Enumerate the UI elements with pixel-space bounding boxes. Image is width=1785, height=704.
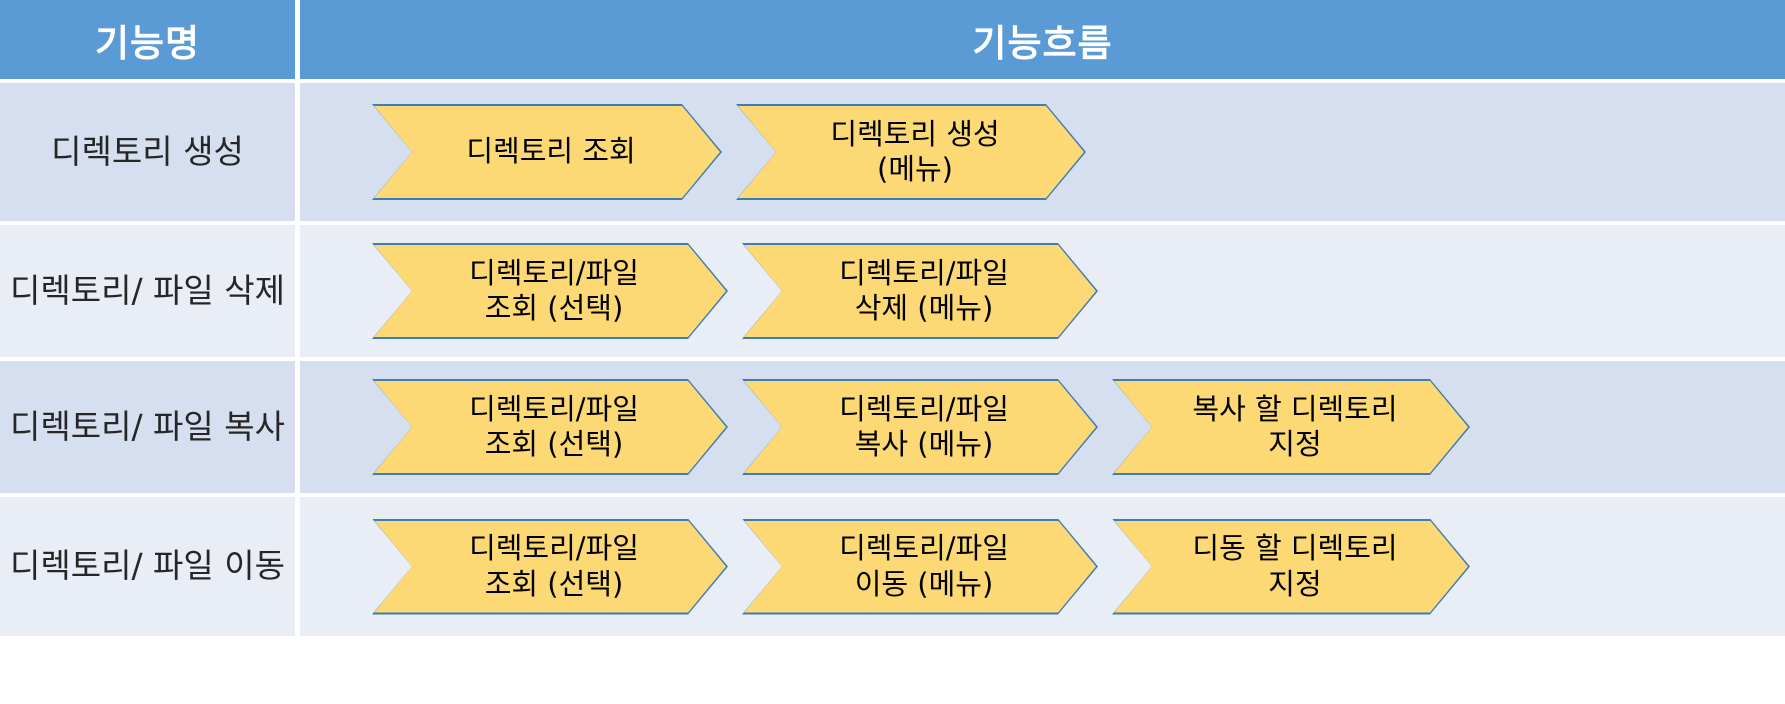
row-function-name: 디렉토리/ 파일 삭제: [0, 225, 300, 357]
row-function-name: 디렉토리/ 파일 이동: [0, 497, 300, 636]
flow-step-label: 디렉토리/파일 삭제 (메뉴): [744, 245, 1096, 337]
row-function-name: 디렉토리 생성: [0, 83, 300, 221]
table-row: 디렉토리 생성 디렉토리 조회 디렉토리 생성 (메뉴): [0, 79, 1785, 221]
flow-step-label: 디렉토리/파일 조회 (선택): [374, 521, 726, 613]
flow-step-label: 디렉토리 생성 (메뉴): [738, 106, 1084, 198]
row-flow-cell: 디렉토리/파일 조회 (선택) 디렉토리/파일 삭제 (메뉴): [300, 225, 1785, 357]
table-header-row: 기능명 기능흐름: [0, 0, 1785, 79]
flow-step-chevron[interactable]: 디렉토리 생성 (메뉴): [736, 104, 1086, 200]
table-row: 디렉토리/ 파일 복사 디렉토리/파일 조회 (선택) 디렉토리/파일 복사 (…: [0, 357, 1785, 493]
flow-step-label: 디렉토리/파일 조회 (선택): [374, 381, 726, 473]
row-flow-cell: 디렉토리 조회 디렉토리 생성 (메뉴): [300, 83, 1785, 221]
row-flow-cell: 디렉토리/파일 조회 (선택) 디렉토리/파일 복사 (메뉴) 복사 할 디렉토…: [300, 361, 1785, 493]
flow-step-label: 디렉토리/파일 이동 (메뉴): [744, 521, 1096, 613]
flow-step-label: 복사 할 디렉토리 지정: [1114, 381, 1468, 473]
flow-step-chevron[interactable]: 디동 할 디렉토리 지정: [1112, 519, 1470, 615]
flow-step-label: 디렉토리/파일 조회 (선택): [374, 245, 726, 337]
flow-step-chevron[interactable]: 디렉토리/파일 조회 (선택): [372, 243, 728, 339]
flow-step-chevron[interactable]: 디렉토리/파일 삭제 (메뉴): [742, 243, 1098, 339]
flow-step-chevron[interactable]: 디렉토리/파일 조회 (선택): [372, 519, 728, 615]
flow-step-chevron[interactable]: 디렉토리/파일 조회 (선택): [372, 379, 728, 475]
row-function-name: 디렉토리/ 파일 복사: [0, 361, 300, 493]
table-row: 디렉토리/ 파일 삭제 디렉토리/파일 조회 (선택) 디렉토리/파일 삭제 (…: [0, 221, 1785, 357]
table-row: 디렉토리/ 파일 이동 디렉토리/파일 조회 (선택) 디렉토리/파일 이동 (…: [0, 493, 1785, 636]
flow-step-chevron[interactable]: 디렉토리/파일 복사 (메뉴): [742, 379, 1098, 475]
flow-step-chevron[interactable]: 디렉토리/파일 이동 (메뉴): [742, 519, 1098, 615]
flow-step-label: 디동 할 디렉토리 지정: [1114, 521, 1468, 613]
function-flow-table: 기능명 기능흐름 디렉토리 생성 디렉토리 조회 디렉토리 생성 (메뉴) 디렉…: [0, 0, 1785, 704]
column-header-function-flow: 기능흐름: [300, 0, 1785, 79]
column-header-function-name: 기능명: [0, 0, 300, 79]
flow-step-chevron[interactable]: 디렉토리 조회: [372, 104, 722, 200]
flow-step-chevron[interactable]: 복사 할 디렉토리 지정: [1112, 379, 1470, 475]
flow-step-label: 디렉토리 조회: [374, 106, 720, 198]
flow-step-label: 디렉토리/파일 복사 (메뉴): [744, 381, 1096, 473]
row-flow-cell: 디렉토리/파일 조회 (선택) 디렉토리/파일 이동 (메뉴) 디동 할 디렉토…: [300, 497, 1785, 636]
